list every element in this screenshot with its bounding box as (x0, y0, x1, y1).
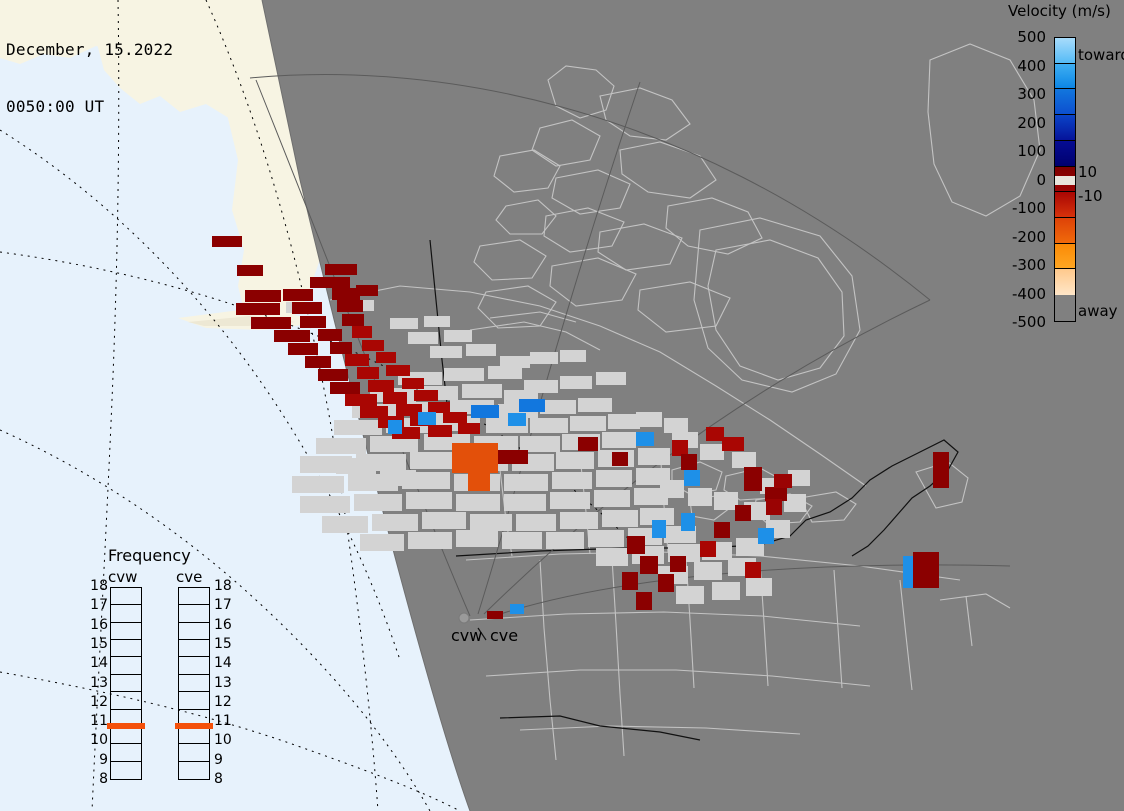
ground-scatter-bin (430, 346, 462, 358)
ground-scatter-bin (578, 398, 612, 412)
ground-scatter-bin (456, 494, 500, 511)
frequency-cell (111, 762, 141, 779)
velocity-bin (933, 452, 949, 488)
velocity-bin (292, 302, 322, 314)
colorbar-positive-threshold: 10 (1078, 163, 1097, 181)
frequency-cell (179, 588, 209, 605)
frequency-scale-right-15: 15 (214, 636, 236, 652)
ground-scatter-bin (694, 562, 722, 580)
ground-scatter-bin (408, 532, 452, 549)
frequency-marker-cvw (107, 723, 145, 729)
ground-scatter-bin (596, 372, 626, 385)
velocity-bin (414, 390, 438, 401)
velocity-bin (758, 528, 774, 544)
ground-scatter-bin (594, 490, 630, 507)
ground-scatter-bin (462, 384, 502, 398)
frequency-scale-left-8: 8 (86, 771, 108, 787)
colorbar-tick-200: 200 (1017, 114, 1046, 132)
ground-scatter-bin (424, 316, 450, 327)
ground-scatter-bin (360, 534, 404, 551)
timestamp-block: December, 15.2022 0050:00 UT (6, 2, 173, 154)
colorbar-zero-gap (1054, 176, 1076, 185)
ground-scatter-bin (520, 436, 560, 452)
velocity-bin (670, 556, 686, 572)
velocity-bin (903, 556, 913, 588)
frequency-cell (179, 675, 209, 692)
velocity-bin (383, 392, 407, 404)
velocity-bin (487, 611, 503, 619)
velocity-bin (681, 454, 697, 470)
velocity-bin (428, 402, 450, 413)
velocity-bin (658, 574, 674, 592)
velocity-bin (310, 277, 350, 288)
velocity-bin (744, 467, 762, 491)
colorbar-swatch-8 (1055, 244, 1075, 270)
frequency-scale-right-11: 11 (214, 713, 236, 729)
ground-scatter-bin (700, 444, 724, 460)
colorbar-title: Velocity (m/s) (1008, 2, 1124, 20)
frequency-cell (179, 640, 209, 657)
frequency-scale-right-14: 14 (214, 655, 236, 671)
colorbar-swatch-7 (1055, 218, 1075, 244)
colorbar-tick-neg300: -300 (1012, 256, 1046, 274)
frequency-cell (179, 762, 209, 779)
frequency-scale-left-18: 18 (86, 578, 108, 594)
ground-scatter-bin (636, 412, 662, 427)
velocity-bin (418, 412, 436, 425)
ground-scatter-bin (504, 474, 548, 491)
timestamp-time: 0050:00 UT (6, 97, 173, 116)
velocity-bin (345, 394, 377, 406)
ground-scatter-bin (470, 514, 512, 531)
velocity-bin (468, 473, 490, 491)
frequency-scale-left-10: 10 (86, 732, 108, 748)
velocity-bin (318, 329, 342, 341)
frequency-cell (179, 727, 209, 744)
colorbar-tick-400: 400 (1017, 57, 1046, 75)
colorbar-away-label: away (1078, 302, 1118, 320)
velocity-bin (345, 354, 369, 366)
velocity-bin (330, 382, 360, 394)
ground-scatter-bin (504, 494, 546, 511)
colorbar-negative-threshold: -10 (1078, 187, 1103, 205)
ground-scatter-bin (502, 532, 542, 549)
colorbar-swatch-1 (1055, 64, 1075, 90)
frequency-cell (111, 588, 141, 605)
frequency-cell (111, 605, 141, 622)
frequency-scale-right-12: 12 (214, 694, 236, 710)
velocity-bin (452, 443, 498, 473)
frequency-cell (111, 692, 141, 709)
velocity-bin (352, 326, 372, 338)
frequency-cell (179, 692, 209, 709)
frequency-cell (179, 605, 209, 622)
frequency-cell (111, 640, 141, 657)
colorbar-tick-neg200: -200 (1012, 228, 1046, 246)
ground-scatter-bin (602, 510, 638, 527)
frequency-cell (179, 623, 209, 640)
frequency-legend-title: Frequency (108, 546, 191, 565)
ground-scatter-bin (712, 582, 740, 600)
velocity-bin (236, 303, 280, 315)
ground-scatter-bin (638, 448, 670, 465)
ground-scatter-bin (406, 492, 452, 509)
ground-scatter-bin (714, 492, 738, 510)
velocity-bin (237, 265, 263, 276)
radar-site-label-cvw: cvw (451, 626, 482, 645)
ground-scatter-bin (550, 492, 590, 509)
ground-scatter-bin (664, 418, 688, 433)
frequency-scale-left-16: 16 (86, 617, 108, 633)
velocity-bin (622, 572, 638, 590)
ground-scatter-bin (588, 530, 624, 547)
frequency-scale-left-17: 17 (86, 597, 108, 613)
ground-scatter-bin (500, 356, 530, 368)
velocity-bin (376, 352, 396, 363)
ground-scatter-bin (322, 516, 368, 533)
frequency-column-label-cve: cve (176, 568, 202, 586)
velocity-bin (636, 432, 654, 446)
ground-scatter-bin (560, 512, 598, 529)
ground-scatter-bin (784, 494, 806, 512)
colorbar-tick-neg500: -500 (1012, 313, 1046, 331)
ground-scatter-bin (336, 458, 376, 474)
ground-scatter-bin (602, 432, 636, 448)
velocity-bin (356, 285, 378, 296)
ground-scatter-bin (354, 494, 402, 511)
ground-scatter-bin (372, 514, 418, 531)
frequency-cell (179, 744, 209, 761)
ground-scatter-bin (552, 472, 592, 489)
timestamp-date: December, 15.2022 (6, 40, 173, 59)
velocity-bin (332, 288, 360, 300)
frequency-scale-left-11: 11 (86, 713, 108, 729)
colorbar-swatch-2 (1055, 89, 1075, 115)
frequency-scale-right-9: 9 (214, 752, 236, 768)
colorbar-swatch-4 (1055, 141, 1075, 167)
velocity-bin (578, 437, 598, 451)
velocity-bin (652, 520, 666, 538)
superdarn-velocity-map: December, 15.2022 0050:00 UT Velocity (m… (0, 0, 1124, 811)
ground-scatter-bin (292, 476, 344, 493)
velocity-bin (245, 290, 281, 302)
velocity-bin (774, 474, 792, 488)
velocity-bin (681, 513, 695, 531)
velocity-bin (913, 552, 939, 588)
frequency-scale-right-18: 18 (214, 578, 236, 594)
frequency-legend: Frequency cvw cve 1818171716161515141413… (86, 546, 256, 791)
colorbar-tick-neg100: -100 (1012, 199, 1046, 217)
ground-scatter-bin (676, 586, 704, 604)
velocity-bin (471, 405, 499, 418)
ground-scatter-bin (422, 512, 466, 529)
ground-scatter-bin (390, 318, 418, 329)
velocity-colorbar: Velocity (m/s) 5004003002001000-100-200-… (1004, 2, 1124, 332)
velocity-bin (519, 399, 545, 412)
ground-scatter-bin (746, 578, 772, 596)
velocity-bin (766, 499, 782, 515)
velocity-bin (386, 365, 410, 376)
ground-scatter-bin (316, 438, 366, 454)
velocity-bin (627, 536, 645, 554)
ground-scatter-bin (300, 496, 350, 513)
velocity-bin (745, 562, 761, 578)
velocity-bin (706, 427, 724, 441)
velocity-bin (251, 317, 291, 329)
frequency-cell (111, 675, 141, 692)
frequency-scale-right-10: 10 (214, 732, 236, 748)
frequency-scale-right-16: 16 (214, 617, 236, 633)
ground-scatter-bin (660, 480, 684, 498)
velocity-bin (212, 236, 242, 247)
frequency-scale-left-14: 14 (86, 655, 108, 671)
ground-scatter-bin (556, 452, 594, 469)
ground-scatter-bin (410, 452, 458, 469)
velocity-bin (428, 425, 452, 437)
frequency-scale-left-12: 12 (86, 694, 108, 710)
ground-scatter-bin (408, 332, 438, 344)
velocity-bin (337, 300, 363, 312)
ground-scatter-bin (608, 414, 640, 429)
velocity-bin (765, 487, 787, 501)
colorbar-toward-label: toward (1078, 46, 1124, 64)
velocity-bin (318, 369, 348, 381)
velocity-bin (636, 592, 652, 610)
frequency-scale-left-15: 15 (86, 636, 108, 652)
frequency-scale-left-13: 13 (86, 675, 108, 691)
ground-scatter-bin (560, 350, 586, 362)
frequency-cell (111, 744, 141, 761)
velocity-bin (274, 330, 310, 342)
ground-scatter-bin (444, 330, 472, 342)
colorbar-tick-300: 300 (1017, 85, 1046, 103)
ground-scatter-bin (688, 488, 712, 506)
velocity-bin (700, 541, 716, 557)
ground-scatter-bin (732, 452, 756, 468)
colorbar-tick-neg400: -400 (1012, 285, 1046, 303)
frequency-scale-left-9: 9 (86, 752, 108, 768)
velocity-bin (283, 289, 313, 301)
colorbar-swatch-9 (1055, 269, 1075, 295)
velocity-bin (402, 378, 424, 389)
velocity-bin (330, 342, 352, 354)
frequency-scale-right-13: 13 (214, 675, 236, 691)
frequency-cell (111, 657, 141, 674)
velocity-bin (508, 413, 526, 426)
colorbar-tick-0: 0 (1036, 171, 1046, 189)
velocity-bin (288, 343, 318, 355)
colorbar-tick-100: 100 (1017, 142, 1046, 160)
velocity-bin (388, 420, 402, 434)
frequency-cell (179, 657, 209, 674)
radar-site-label-cve: cve (490, 626, 518, 645)
velocity-bin (612, 452, 628, 466)
ground-scatter-bin (530, 352, 558, 364)
velocity-bin (342, 314, 364, 326)
ground-scatter-bin (546, 532, 584, 549)
velocity-bin (640, 556, 658, 574)
velocity-bin (510, 604, 524, 614)
ground-scatter-bin (456, 530, 498, 547)
frequency-scale-right-17: 17 (214, 597, 236, 613)
ground-scatter-bin (596, 470, 632, 487)
velocity-bin (368, 380, 394, 392)
velocity-bin (458, 423, 480, 434)
ground-scatter-bin (560, 376, 592, 389)
ground-scatter-bin (444, 368, 484, 381)
frequency-bar-cve (178, 587, 210, 780)
ground-scatter-bin (530, 418, 568, 433)
colorbar-swatch-6 (1055, 192, 1075, 218)
frequency-cell (111, 727, 141, 744)
ground-scatter-bin (334, 420, 382, 435)
frequency-bar-cvw (110, 587, 142, 780)
ground-scatter-bin (596, 548, 628, 566)
velocity-bin (735, 505, 751, 521)
velocity-bin (714, 522, 730, 538)
velocity-bin (684, 470, 700, 486)
velocity-bin (672, 440, 688, 456)
velocity-bin (498, 450, 528, 464)
frequency-scale-right-8: 8 (214, 771, 236, 787)
velocity-bin (362, 340, 384, 351)
ground-scatter-bin (466, 344, 496, 356)
frequency-cell (111, 623, 141, 640)
colorbar-swatch-3 (1055, 115, 1075, 141)
velocity-bin (443, 412, 467, 423)
ground-scatter-bin (516, 514, 556, 531)
ground-scatter-bin (380, 470, 416, 486)
colorbar-swatch-0 (1055, 38, 1075, 64)
colorbar-tick-500: 500 (1017, 28, 1046, 46)
frequency-column-label-cvw: cvw (108, 568, 137, 586)
velocity-bin (357, 367, 379, 379)
velocity-bin (722, 437, 744, 451)
ground-scatter-bin (540, 400, 576, 414)
frequency-marker-cve (175, 723, 213, 729)
velocity-bin (325, 264, 357, 275)
velocity-bin (305, 356, 331, 368)
radar-site-marker (459, 613, 469, 623)
ground-scatter-bin (570, 416, 606, 431)
velocity-bin (300, 316, 326, 328)
